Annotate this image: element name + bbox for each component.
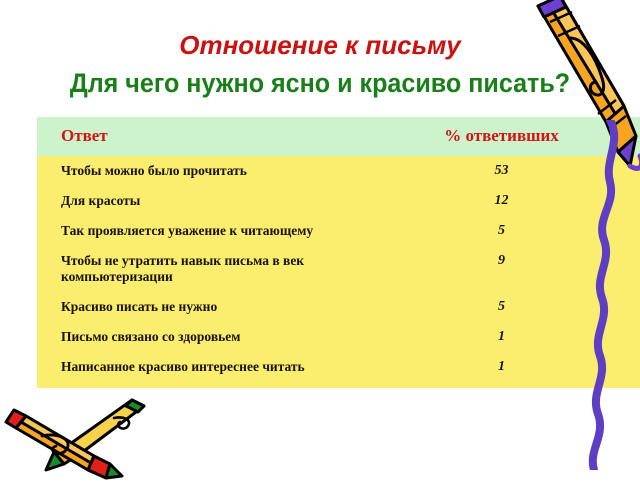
- cell-answer: Чтобы можно было прочитать: [37, 156, 391, 186]
- slide-root: Отношение к письму Для чего нужно ясно и…: [0, 0, 640, 480]
- page-subtitle: Для чего нужно ясно и красиво писать?: [22, 68, 617, 99]
- cell-percent: 12: [391, 186, 640, 216]
- table-row: Чтобы не утратить навык письма в век ком…: [37, 246, 640, 292]
- crossed-pencils-icon: [2, 392, 192, 484]
- table-head: Ответ % ответивших: [37, 117, 640, 156]
- cell-answer: Чтобы не утратить навык письма в век ком…: [37, 246, 391, 292]
- cell-answer: Для красоты: [37, 186, 391, 216]
- cell-percent: 9: [391, 246, 640, 292]
- column-header-answer: Ответ: [37, 117, 391, 156]
- table-row: Для красоты12: [37, 186, 640, 216]
- cell-percent: 1: [391, 322, 640, 352]
- cell-answer: Так проявляется уважение к читающему: [37, 216, 391, 246]
- page-title: Отношение к письму: [0, 30, 640, 61]
- table-header-row: Ответ % ответивших: [37, 117, 640, 156]
- poll-table: Ответ % ответивших Чтобы можно было проч…: [37, 117, 640, 388]
- table-row: Красиво писать не нужно5: [37, 292, 640, 322]
- cell-percent: 5: [391, 216, 640, 246]
- table-body: Чтобы можно было прочитать53Для красоты1…: [37, 156, 640, 388]
- cell-answer: Красиво писать не нужно: [37, 292, 391, 322]
- table-row: Так проявляется уважение к читающему5: [37, 216, 640, 246]
- cell-percent: 5: [391, 292, 640, 322]
- cell-answer: Письмо связано со здоровьем: [37, 322, 391, 352]
- cell-percent: 1: [391, 352, 640, 388]
- poll-table-container: Ответ % ответивших Чтобы можно было проч…: [37, 117, 588, 388]
- column-header-percent: % ответивших: [391, 117, 640, 156]
- cell-percent: 53: [391, 156, 640, 186]
- cell-answer: Написанное красиво интереснее читать: [37, 352, 391, 388]
- table-row: Письмо связано со здоровьем1: [37, 322, 640, 352]
- table-row: Написанное красиво интереснее читать1: [37, 352, 640, 388]
- table-row: Чтобы можно было прочитать53: [37, 156, 640, 186]
